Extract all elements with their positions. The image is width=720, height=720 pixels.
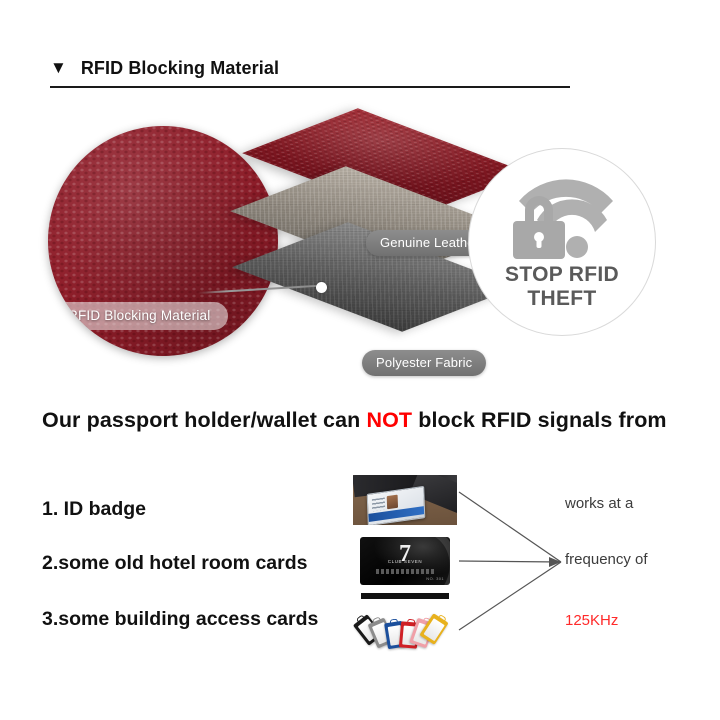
badge-line-1: STOP RFID (505, 263, 619, 287)
caption-frequency-value: 125KHz (565, 612, 618, 629)
list-item: 3.some building access cards (42, 608, 352, 631)
label-polyester-fabric: Polyester Fabric (362, 350, 486, 376)
triangle-down-icon: ▼ (50, 59, 67, 76)
magnified-leather-circle: RFID Blocking Material (48, 126, 278, 356)
id-badge-photo-art (353, 475, 457, 525)
wifi-signal-blocked-lock-icon (501, 165, 623, 261)
badge-line-2: THEFT (505, 287, 619, 311)
stop-rfid-theft-badge: STOP RFID THEFT (468, 148, 656, 336)
id-card-text-lines (372, 497, 385, 511)
headline-emphasis-not: NOT (366, 408, 412, 432)
headline: Our passport holder/wallet can NOT block… (42, 408, 682, 433)
hotel-key-card-photo: 7 CLUB SEVEN NO. 301 (353, 532, 457, 590)
hotel-key-card-art: 7 CLUB SEVEN NO. 301 (353, 532, 457, 590)
headline-after: block RFID signals from (412, 408, 666, 432)
stop-rfid-theft-text: STOP RFID THEFT (505, 263, 619, 310)
material-diagram: RFID Blocking Material Genuine Leather P… (0, 96, 720, 386)
id-card-portrait (387, 495, 398, 510)
headline-before: Our passport holder/wallet can (42, 408, 366, 432)
badge-holders-photo (353, 593, 457, 653)
caption-line-2: frequency of (565, 551, 648, 568)
card-subtext-block (376, 569, 434, 574)
hotel-key-card: 7 CLUB SEVEN NO. 301 (360, 537, 450, 585)
page-title: RFID Blocking Material (81, 58, 279, 79)
card-code-text: NO. 301 (426, 576, 444, 581)
callout-node-dot (316, 282, 327, 293)
id-card (367, 486, 426, 525)
card-brand-text: CLUB SEVEN (388, 559, 423, 564)
badge-holders-art (353, 593, 457, 653)
list-item: 2.some old hotel room cards (42, 552, 352, 575)
section-header: ▼ RFID Blocking Material (50, 50, 570, 88)
caption-line-1: works at a (565, 495, 633, 512)
dark-background-strip (361, 593, 449, 599)
id-badge-photo (353, 475, 457, 525)
list-item: 1. ID badge (42, 498, 352, 521)
rfid-blocking-material-label: RFID Blocking Material (48, 302, 228, 330)
